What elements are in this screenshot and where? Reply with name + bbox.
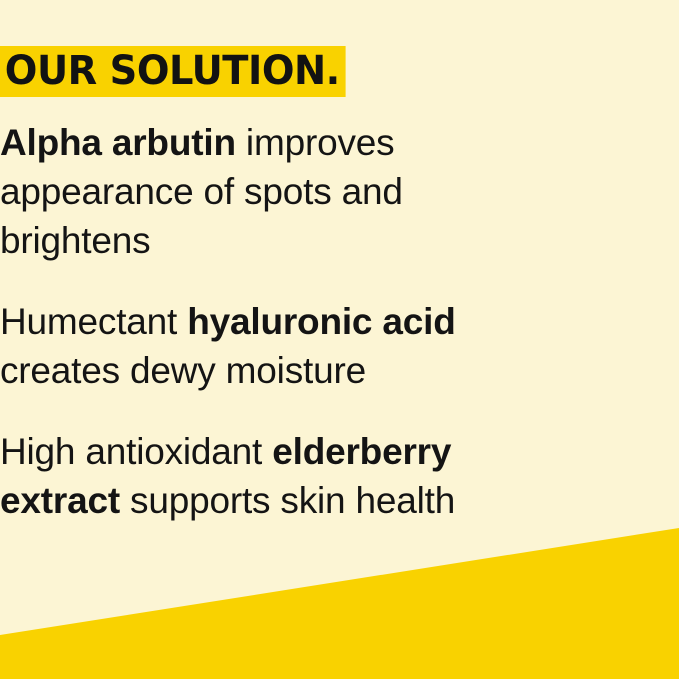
benefit-item-elderberry-extract: High antioxidant elderberry extract supp… bbox=[0, 427, 560, 525]
benefit-prefix: High antioxidant bbox=[0, 431, 272, 472]
benefits-list: Alpha arbutin improves appearance of spo… bbox=[0, 118, 610, 525]
heading-container: OUR SOLUTION. bbox=[0, 46, 360, 97]
diagonal-band-shape bbox=[0, 528, 679, 679]
benefit-description: supports skin health bbox=[120, 480, 455, 521]
benefit-prefix: Humectant bbox=[0, 301, 187, 342]
benefit-item-alpha-arbutin: Alpha arbutin improves appearance of spo… bbox=[0, 118, 560, 265]
benefit-ingredient-name: hyaluronic acid bbox=[187, 301, 455, 342]
infographic-canvas: OUR SOLUTION. Alpha arbutin improves app… bbox=[0, 0, 679, 679]
benefit-ingredient-name: Alpha arbutin bbox=[0, 122, 236, 163]
benefit-description: creates dewy moisture bbox=[0, 350, 366, 391]
page-title: OUR SOLUTION. bbox=[0, 46, 346, 97]
benefit-item-hyaluronic-acid: Humectant hyaluronic acid creates dewy m… bbox=[0, 297, 560, 395]
